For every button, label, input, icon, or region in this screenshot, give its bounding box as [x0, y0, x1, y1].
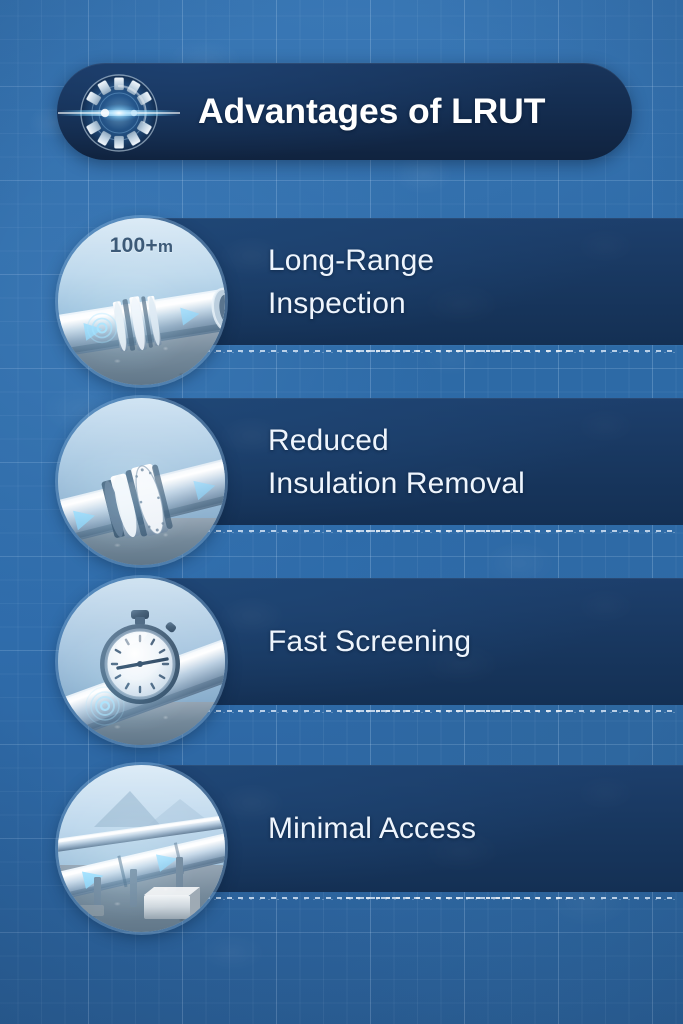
- advantage-line: Reduced: [268, 419, 525, 462]
- range-badge: 100+m: [58, 234, 225, 258]
- advantage-row-1[interactable]: 100+m Long-Range Inspection: [0, 218, 683, 345]
- row-divider: [205, 530, 675, 533]
- elevated-pipeline-on-supports-image: [58, 765, 225, 932]
- advantage-row-4[interactable]: Minimal Access: [0, 765, 683, 892]
- insulated-pipe-collar-image: [58, 398, 225, 565]
- advantage-line: Long-Range: [268, 239, 434, 282]
- row-divider: [205, 897, 675, 900]
- advantage-text-4: Minimal Access: [268, 765, 476, 892]
- advantage-line: Inspection: [268, 282, 434, 325]
- advantage-line: Insulation Removal: [268, 462, 525, 505]
- range-badge-value: 100+: [110, 234, 158, 257]
- infographic-poster: Advantages of LRUT: [0, 0, 683, 1024]
- stopwatch-over-pipe-image: [58, 578, 225, 745]
- advantage-row-3[interactable]: Fast Screening: [0, 578, 683, 705]
- advantage-row-2[interactable]: Reduced Insulation Removal: [0, 398, 683, 525]
- pipe-with-transducer-collar-image: 100+m: [58, 218, 225, 385]
- row-divider: [205, 350, 675, 353]
- range-badge-unit: m: [158, 237, 173, 256]
- advantage-text-1: Long-Range Inspection: [268, 218, 434, 345]
- advantage-line: Fast Screening: [268, 620, 471, 663]
- row-divider: [205, 710, 675, 713]
- page-title: Advantages of LRUT: [198, 63, 545, 160]
- advantage-text-3: Fast Screening: [268, 578, 471, 705]
- advantage-text-2: Reduced Insulation Removal: [268, 398, 525, 525]
- advantage-line: Minimal Access: [268, 807, 476, 850]
